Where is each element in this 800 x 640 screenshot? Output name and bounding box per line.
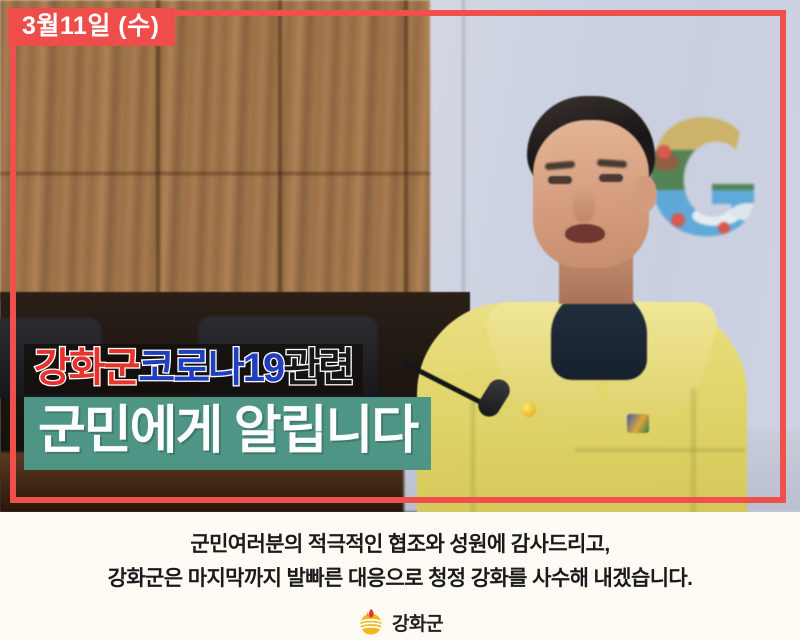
wood-seam bbox=[0, 172, 430, 175]
photo-area: 강화군코로나19관련 군민에게 알립니다 bbox=[0, 0, 800, 512]
wood-joint bbox=[278, 0, 282, 300]
kicker-part-ganghwagun: 강화군 bbox=[34, 348, 138, 388]
headline-banner: 군민에게 알립니다 bbox=[24, 397, 431, 470]
footer-logo-text: 강화군 bbox=[392, 609, 443, 636]
ganghwa-emblem-icon bbox=[357, 608, 385, 636]
footer-logo: 강화군 bbox=[0, 608, 800, 636]
lapel-badge bbox=[521, 402, 536, 417]
ear bbox=[633, 176, 657, 212]
eye bbox=[599, 174, 623, 182]
wood-joint bbox=[404, 0, 408, 300]
kicker-part-corona19: 코로나19 bbox=[138, 348, 283, 388]
jacket-fold bbox=[471, 396, 475, 512]
kicker-part-related: 관련 bbox=[283, 348, 353, 388]
notice-card: 강화군코로나19관련 군민에게 알립니다 3월11일 (수) 군민여러분의 적극… bbox=[0, 0, 800, 640]
jacket-emblem-patch bbox=[627, 414, 649, 433]
headline-kicker: 강화군코로나19관련 bbox=[24, 344, 363, 394]
eye bbox=[548, 176, 572, 184]
jacket-fold bbox=[575, 448, 745, 452]
headline-block: 강화군코로나19관련 군민에게 알립니다 bbox=[24, 344, 444, 470]
speaker-figure bbox=[455, 96, 755, 512]
mouth bbox=[565, 224, 605, 243]
caption-area: 군민여러분의 적극적인 협조와 성원에 감사드리고, 강화군은 마지막까지 발빠… bbox=[0, 512, 800, 640]
nose bbox=[573, 188, 595, 222]
caption-line-2: 강화군은 마지막까지 발빠른 대응으로 청정 강화를 사수해 내겠습니다. bbox=[0, 562, 800, 596]
date-badge: 3월11일 (수) bbox=[8, 8, 175, 46]
caption-line-1: 군민여러분의 적극적인 협조와 성원에 감사드리고, bbox=[0, 528, 800, 562]
